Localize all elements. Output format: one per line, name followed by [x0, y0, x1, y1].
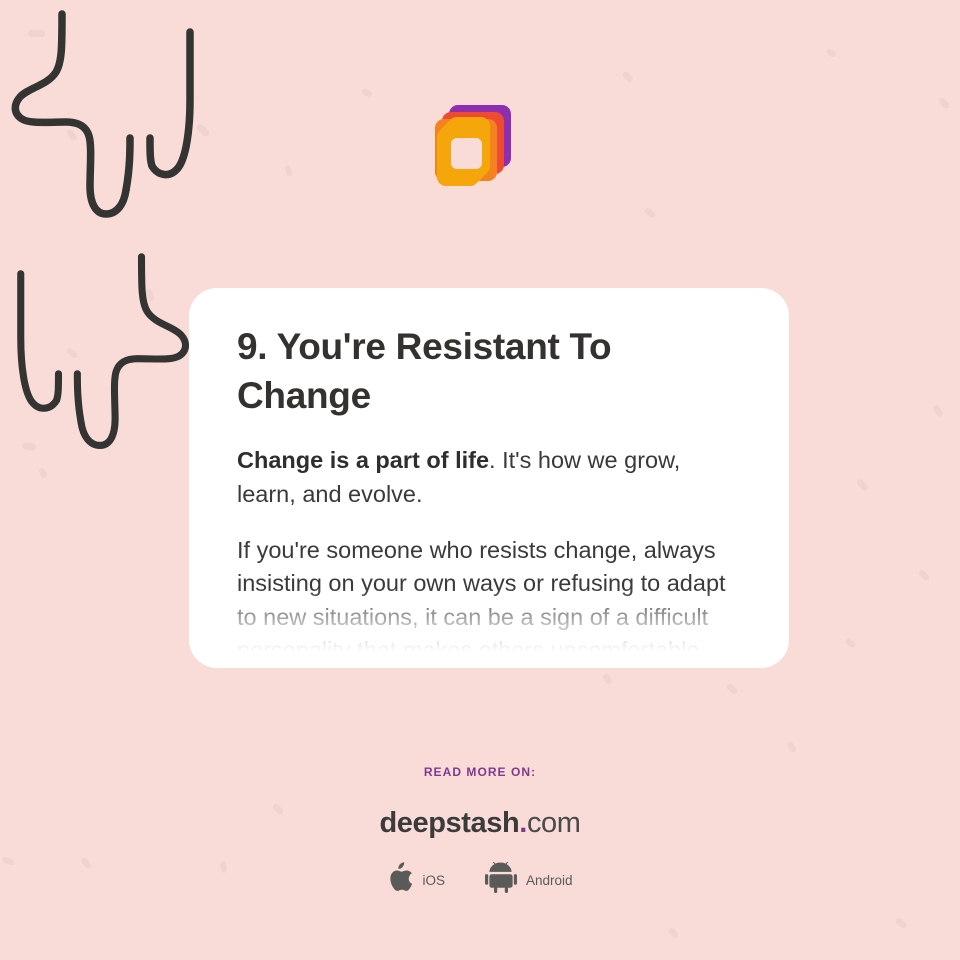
idea-card: 9. You're Resistant To Change Change is …	[189, 288, 789, 668]
logo-center-cutout	[451, 138, 482, 169]
platform-android-label: Android	[526, 873, 573, 888]
apple-icon	[387, 862, 413, 898]
deepstash-logo	[424, 104, 520, 200]
page-title: 9. You're Resistant To Change	[237, 322, 741, 420]
platform-ios[interactable]: iOS	[387, 862, 445, 898]
confetti-mark	[856, 478, 869, 492]
confetti-mark	[844, 637, 856, 648]
confetti-mark	[726, 683, 739, 695]
platform-ios-label: iOS	[422, 873, 445, 888]
platform-android[interactable]: Android	[485, 862, 573, 898]
confetti-mark	[894, 917, 907, 929]
confetti-mark	[786, 741, 796, 754]
platform-badges: iOS	[0, 862, 960, 898]
brand-wordmark[interactable]: deepstash.com	[0, 807, 960, 840]
brand-tld: com	[527, 807, 581, 839]
card-paragraph-1-lead: Change is a part of life	[237, 447, 489, 473]
brand-dot: .	[519, 807, 527, 839]
brand-name: deepstash	[379, 807, 519, 839]
footer: READ MORE ON: deepstash.com iOS	[0, 765, 960, 898]
confetti-mark	[602, 673, 613, 686]
card-paragraph-1: Change is a part of life. It's how we gr…	[237, 444, 741, 511]
card-paragraph-2: If you're someone who resists change, al…	[237, 534, 741, 668]
idea-card-content: 9. You're Resistant To Change Change is …	[189, 288, 789, 668]
android-icon	[485, 862, 517, 898]
deepstash-story-card: 9. You're Resistant To Change Change is …	[0, 0, 960, 960]
confetti-mark	[918, 569, 931, 582]
confetti-mark	[668, 927, 680, 939]
card-paragraph-2-text: If you're someone who resists change, al…	[237, 537, 726, 664]
read-more-label: READ MORE ON:	[0, 765, 960, 779]
